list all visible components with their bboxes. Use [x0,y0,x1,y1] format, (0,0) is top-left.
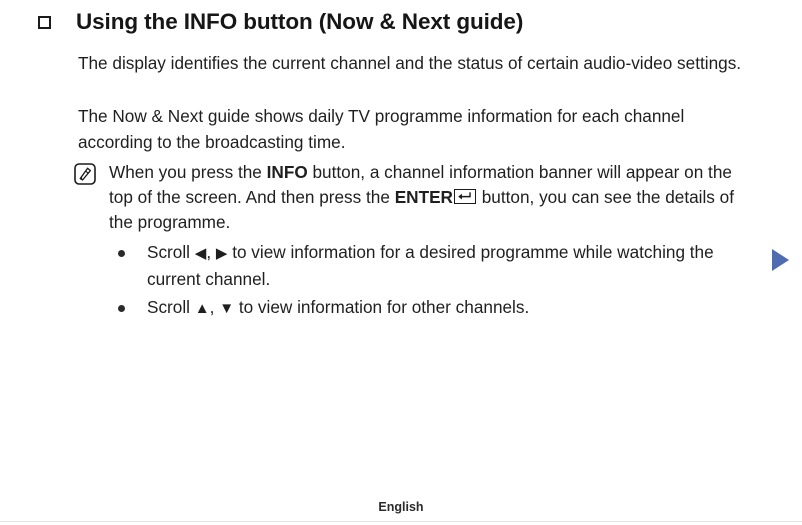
footer-divider [0,521,802,522]
note-text-part-1: When you press the [109,162,267,182]
next-page-arrow-icon[interactable] [772,249,789,271]
bullet-0-part-2: , [206,242,216,262]
footer-language: English [0,500,802,514]
paragraph-display-identifies: The display identifies the current chann… [78,50,742,76]
square-bullet-icon [38,16,55,33]
section-heading: Using the INFO button (Now & Next guide) [38,8,762,36]
page-title: Using the INFO button (Now & Next guide) [76,8,523,36]
note-emphasis-info: INFO [267,162,308,182]
enter-return-key-icon [454,189,476,204]
paragraph-now-next-guide: The Now & Next guide shows daily TV prog… [78,103,742,155]
bullet-1-part-1: Scroll [147,297,195,317]
list-item-text: Scroll ▲, ▼ to view information for othe… [147,295,529,322]
note-text: When you press the INFO button, a channe… [109,160,754,235]
arrow-down-icon: ▼ [219,300,234,317]
arrow-left-icon: ◀ [195,245,207,262]
note-block: When you press the INFO button, a channe… [74,160,754,235]
bullet-0-part-3: to view information for a desired progra… [147,242,714,289]
list-item: Scroll ◀, ▶ to view information for a de… [118,240,754,292]
bullet-1-part-2: , [210,297,220,317]
list-item: Scroll ▲, ▼ to view information for othe… [118,295,754,322]
arrow-right-icon: ▶ [216,245,228,262]
list-item-text: Scroll ◀, ▶ to view information for a de… [147,240,754,292]
manual-page: Using the INFO button (Now & Next guide)… [0,0,802,525]
dot-bullet-icon [118,250,125,257]
bullet-1-part-3: to view information for other channels. [234,297,529,317]
bullet-0-part-1: Scroll [147,242,195,262]
arrow-up-icon: ▲ [195,300,210,317]
note-emphasis-enter: ENTER [395,187,453,207]
note-pencil-icon [74,163,96,185]
bullet-list: Scroll ◀, ▶ to view information for a de… [118,240,754,325]
dot-bullet-icon [118,305,125,312]
